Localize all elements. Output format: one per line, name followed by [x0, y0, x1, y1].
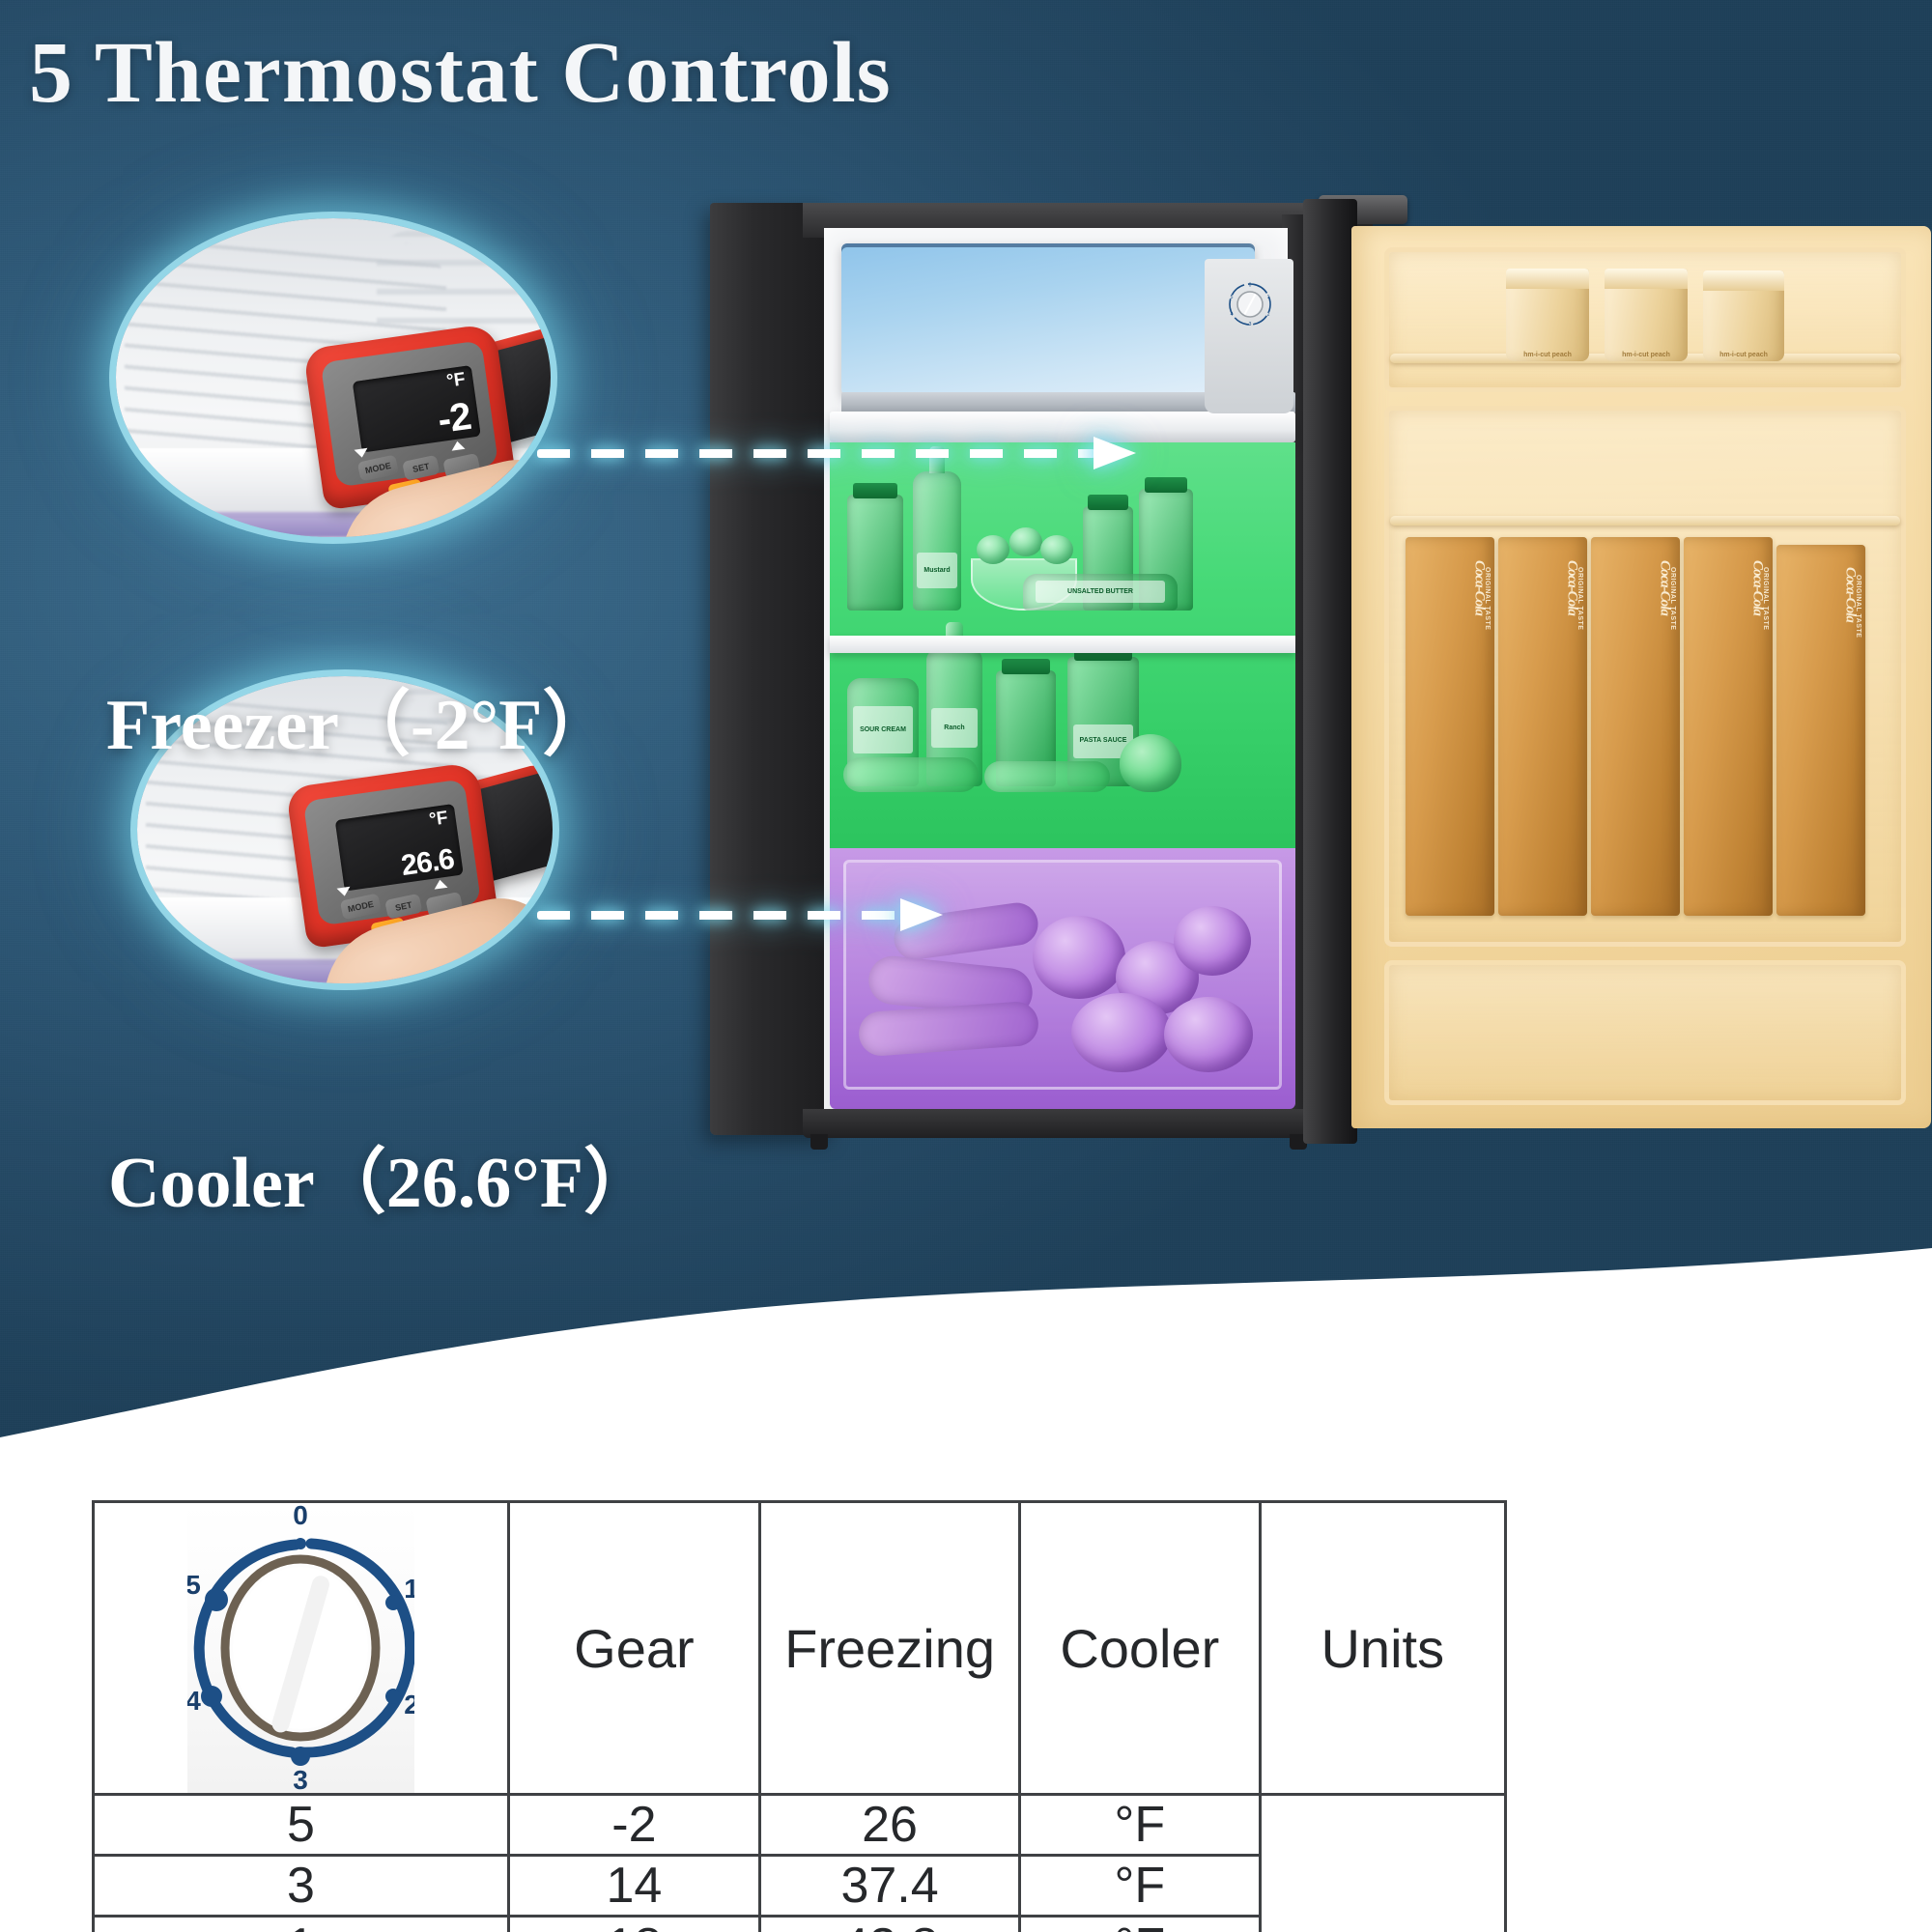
celery-pack [984, 761, 1110, 792]
thermometer-unit: °F [445, 370, 467, 390]
svg-text:1: 1 [404, 1574, 414, 1604]
yogurt-cup: hm-i-cut peach [1703, 270, 1784, 361]
apple [1120, 734, 1181, 792]
egg [1040, 535, 1073, 564]
refrigerator-photo: 0 1 2 3 4 5 Mustard [710, 193, 1932, 1159]
thermostat-table: 0 1 2 3 4 5 Gear Freezing Cooler Units [92, 1500, 1507, 1932]
arrowhead-icon [1094, 437, 1136, 469]
svg-text:3: 3 [293, 1765, 308, 1793]
cooler-caption: Cooler（26.6°F） [108, 1124, 655, 1228]
soda-can: Coca-Cola ORIGINAL TASTE [1406, 537, 1494, 916]
thermostat-dial-knob[interactable]: 0 1 2 3 4 5 [1228, 282, 1272, 327]
thermometer-display: °F 26.6 [335, 804, 464, 892]
svg-text:2: 2 [404, 1690, 414, 1719]
freezer-compartment-zone [841, 243, 1255, 398]
dial-illustration-cell: 0 1 2 3 4 5 [94, 1502, 509, 1795]
mode-button[interactable]: MODE [340, 894, 382, 921]
yogurt-cup: hm-i-cut peach [1506, 269, 1589, 361]
table-row: 5 -2 26 °F [94, 1795, 1506, 1856]
egg [1009, 527, 1042, 556]
cell-gear: 1 [94, 1917, 509, 1932]
cell-freezing: 14 [508, 1856, 759, 1917]
table-row: 3 14 37.4 °F [94, 1856, 1506, 1917]
arrowhead-icon [900, 898, 943, 931]
dashed-line [537, 449, 1095, 458]
set-button[interactable]: SET [402, 455, 440, 481]
soda-can: Coca-Cola ORIGINAL TASTE [1498, 537, 1587, 916]
cup-label: hm-i-cut peach [1506, 352, 1589, 358]
butter-label: UNSALTED BUTTER [1036, 581, 1165, 604]
cell-gear: 5 [94, 1795, 509, 1856]
dashed-line [537, 911, 902, 920]
down-arrow-icon [337, 887, 352, 897]
column-header-units: Units [1260, 1502, 1505, 1795]
freezer-callout-bubble: °F -2 MODE SET [116, 218, 551, 537]
cell-units: °F [1020, 1795, 1261, 1856]
mode-button[interactable]: MODE [357, 455, 399, 482]
cell-freezing: -2 [508, 1795, 759, 1856]
cell-cooler: 42.8 [760, 1917, 1020, 1932]
cell-freezing: 18 [508, 1917, 759, 1932]
table-header-row: 0 1 2 3 4 5 Gear Freezing Cooler Units [94, 1502, 1506, 1795]
column-header-gear: Gear [508, 1502, 759, 1795]
svg-text:0: 0 [1249, 283, 1252, 289]
door-bin-bottom [1384, 960, 1906, 1105]
crisper-zone [830, 848, 1295, 1109]
soda-can-tagline: ORIGINAL TASTE [1484, 567, 1491, 885]
soda-can: Coca-Cola ORIGINAL TASTE [1591, 537, 1680, 916]
cell-cooler: 37.4 [760, 1856, 1020, 1917]
middle-shelf [830, 636, 1295, 653]
egg [977, 535, 1009, 564]
thermostat-dial-photo: 0 1 2 3 4 5 [187, 1503, 414, 1793]
thermometer-value: 26.6 [400, 845, 456, 881]
up-arrow-icon [433, 879, 447, 890]
pickle-jar [847, 495, 903, 611]
soda-can: Coca-Cola ORIGINAL TASTE [1684, 537, 1773, 916]
svg-text:1: 1 [1267, 295, 1270, 300]
soda-can-brand: Coca-Cola [1412, 560, 1487, 894]
onion [1033, 916, 1125, 999]
sour-cream-label: SOUR CREAM [853, 706, 913, 753]
column-header-cooler: Cooler [1020, 1502, 1261, 1795]
soda-can-tagline: ORIGINAL TASTE [1669, 567, 1676, 885]
svg-text:3: 3 [1249, 322, 1252, 327]
up-arrow-icon [450, 440, 465, 451]
svg-text:0: 0 [293, 1503, 308, 1530]
cell-gear: 3 [94, 1856, 509, 1917]
table-row: 1 18 42.8 °F [94, 1917, 1506, 1932]
soda-can-brand: Coca-Cola [1598, 560, 1672, 894]
column-header-freezing: Freezing [760, 1502, 1020, 1795]
freezer-pointer-arrow [537, 437, 1136, 469]
thermometer-unit: °F [428, 809, 449, 829]
potato [1174, 906, 1251, 976]
soda-can-brand: Coca-Cola [1505, 560, 1579, 894]
svg-text:4: 4 [1231, 312, 1234, 318]
cabinet-foot [810, 1134, 828, 1150]
cell-units: °F [1020, 1917, 1261, 1932]
cucumber [843, 757, 979, 792]
freezer-photo: °F -2 MODE SET [116, 218, 551, 537]
ranch-label: Ranch [931, 708, 979, 747]
down-arrow-icon [355, 448, 369, 459]
soda-can-tagline: ORIGINAL TASTE [1855, 575, 1861, 887]
soda-can-brand: Coca-Cola [1783, 567, 1858, 894]
cooler-pointer-arrow [537, 898, 943, 931]
refrigerator-door[interactable]: hm-i-cut peach hm-i-cut peach hm-i-cut p… [1303, 193, 1931, 1150]
door-bin-rail [1390, 516, 1900, 526]
butter-box: UNSALTED BUTTER [1023, 574, 1178, 611]
cabinet-base [803, 1109, 1315, 1138]
cell-cooler: 26 [760, 1795, 1020, 1856]
door-liner: hm-i-cut peach hm-i-cut peach hm-i-cut p… [1351, 226, 1931, 1128]
cabinet-left-panel [710, 203, 836, 1135]
freezer-caption: Freezer（-2°F） [106, 667, 613, 770]
svg-text:4: 4 [187, 1686, 201, 1716]
cell-units: °F [1020, 1856, 1261, 1917]
mustard-bottle: Mustard [913, 471, 961, 611]
page-title: 5 Thermostat Controls [29, 23, 892, 123]
cup-label: hm-i-cut peach [1703, 352, 1784, 358]
onion [1071, 993, 1172, 1072]
svg-text:5: 5 [1231, 295, 1234, 300]
wave-divider [0, 1188, 1932, 1478]
door-frame [1303, 199, 1357, 1144]
thermometer-value: -2 [436, 397, 473, 440]
yogurt-cup: hm-i-cut peach [1605, 269, 1688, 361]
thermostat-table-wrapper: 0 1 2 3 4 5 Gear Freezing Cooler Units [92, 1500, 1507, 1911]
soda-can-tagline: ORIGINAL TASTE [1577, 567, 1583, 885]
thermometer-display: °F -2 [353, 365, 481, 453]
svg-text:2: 2 [1267, 312, 1270, 318]
potato [1164, 997, 1253, 1072]
soda-can: Coca-Cola ORIGINAL TASTE [1776, 545, 1865, 916]
soda-can-tagline: ORIGINAL TASTE [1762, 567, 1769, 885]
set-button[interactable]: SET [384, 894, 422, 920]
cup-label: hm-i-cut peach [1605, 352, 1688, 358]
svg-text:5: 5 [187, 1570, 201, 1600]
hero-banner: 0 1 2 3 4 5 Mustard [0, 0, 1932, 1478]
soda-can-brand: Coca-Cola [1690, 560, 1765, 894]
